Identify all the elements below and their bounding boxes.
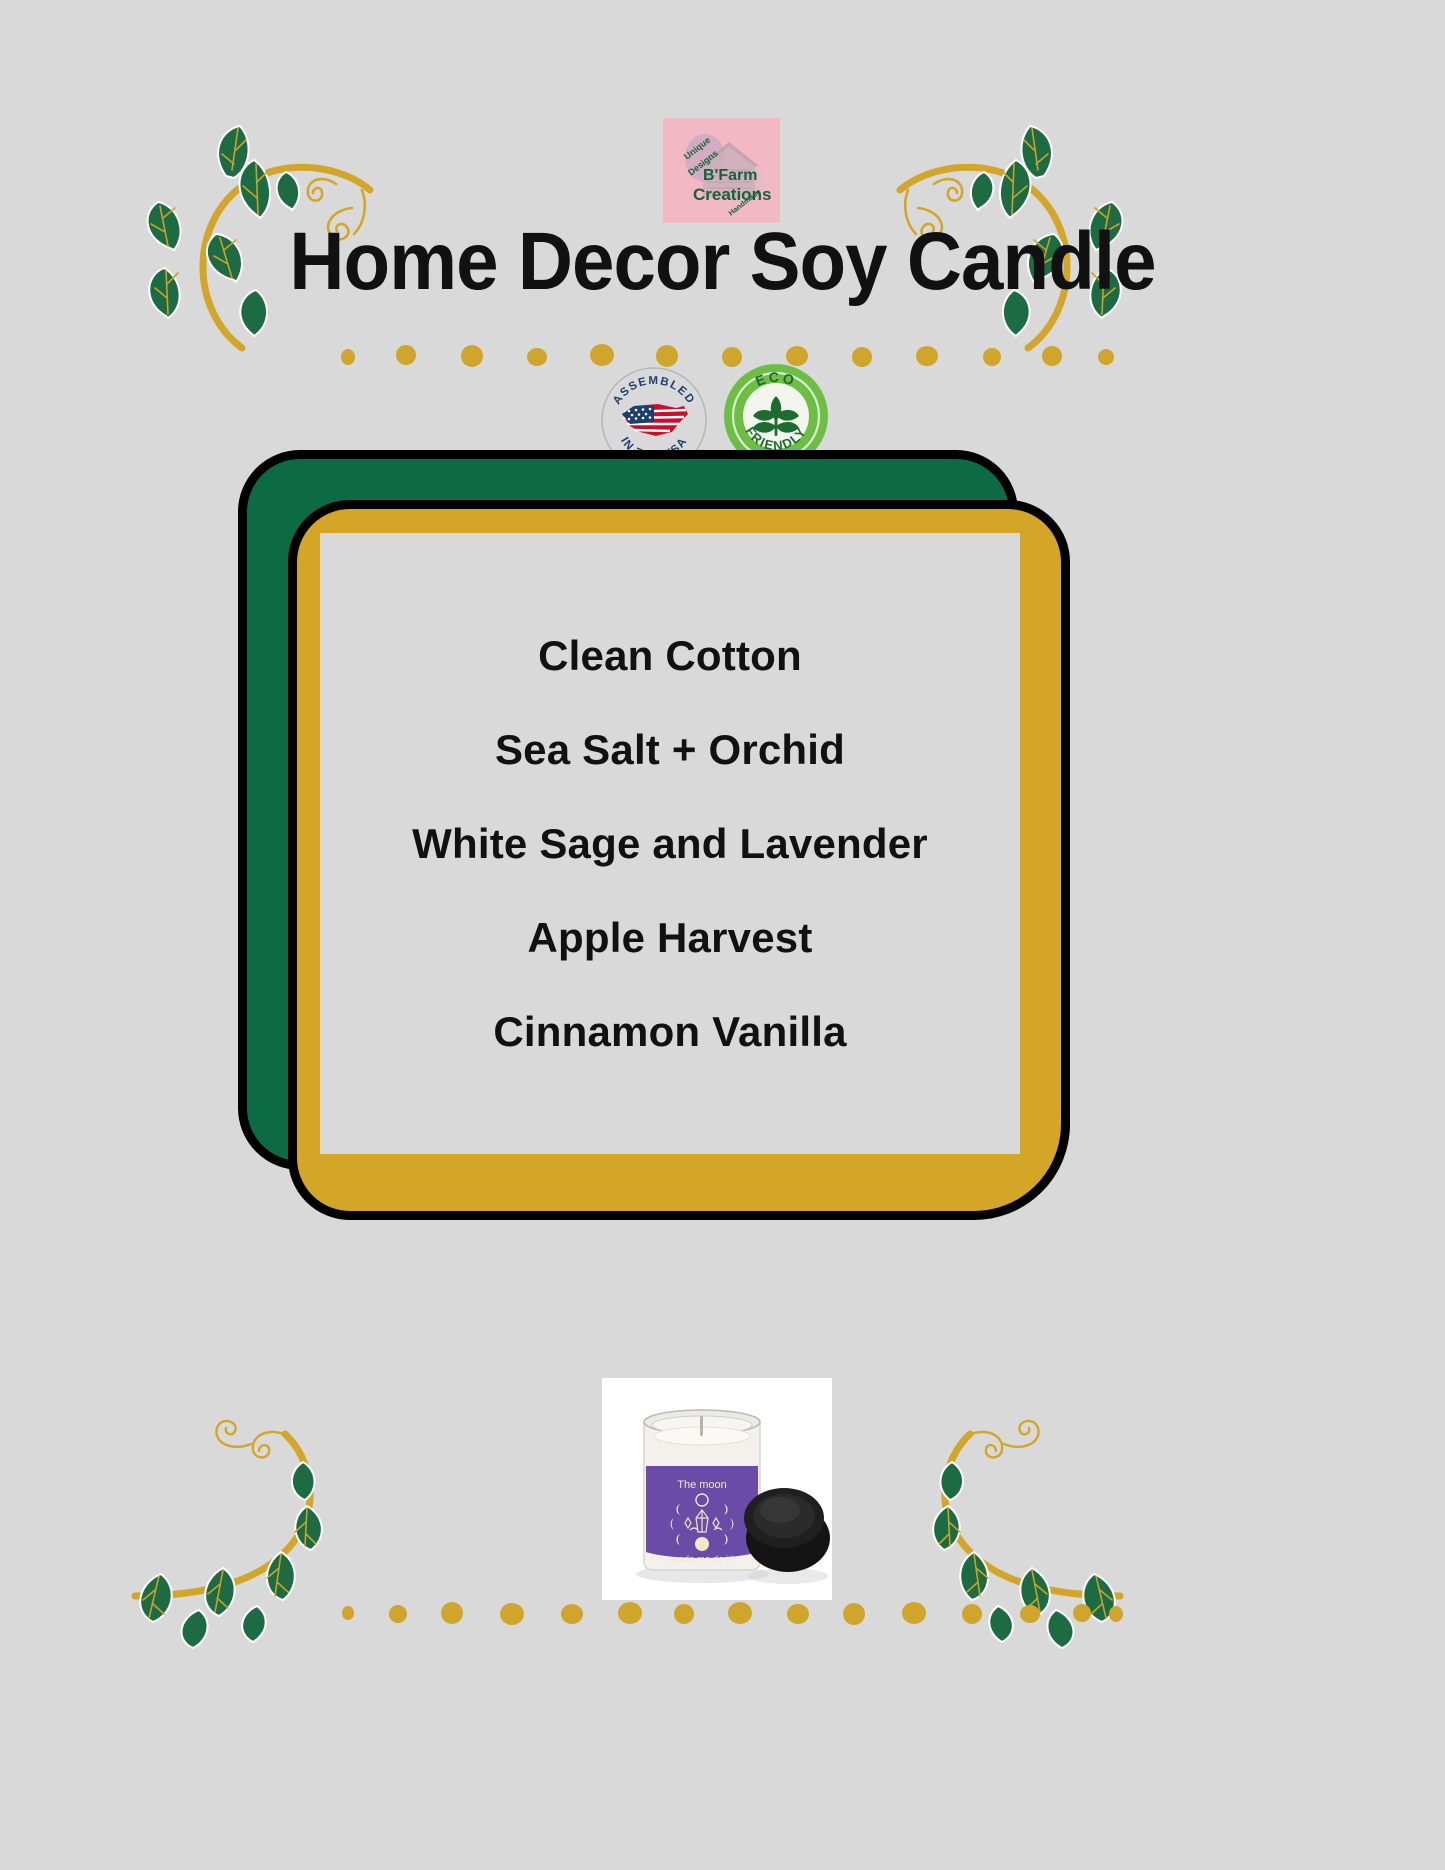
gold-dots-bottom bbox=[340, 1595, 1120, 1629]
candle-wick bbox=[700, 1416, 703, 1436]
page-title: Home Decor Soy Candle bbox=[51, 215, 1395, 309]
scent-item: Clean Cotton bbox=[538, 632, 802, 680]
poster-canvas: Unique Designs B'Farm Creations Handmade bbox=[0, 0, 1445, 1870]
scent-item: Apple Harvest bbox=[527, 914, 812, 962]
product-photo: The moon made me do it! bbox=[602, 1378, 832, 1600]
scent-item: Cinnamon Vanilla bbox=[493, 1008, 846, 1056]
scent-item: Sea Salt + Orchid bbox=[495, 726, 845, 774]
scent-item: White Sage and Lavender bbox=[412, 820, 928, 868]
label-top-text: The moon bbox=[677, 1479, 727, 1491]
brand-logo: Unique Designs B'Farm Creations Handmade bbox=[663, 118, 780, 223]
scent-list: Clean Cotton Sea Salt + Orchid White Sag… bbox=[320, 533, 1020, 1154]
logo-line3: B'Farm bbox=[703, 167, 757, 184]
label-bottom-text: made me do it! bbox=[671, 1554, 734, 1565]
